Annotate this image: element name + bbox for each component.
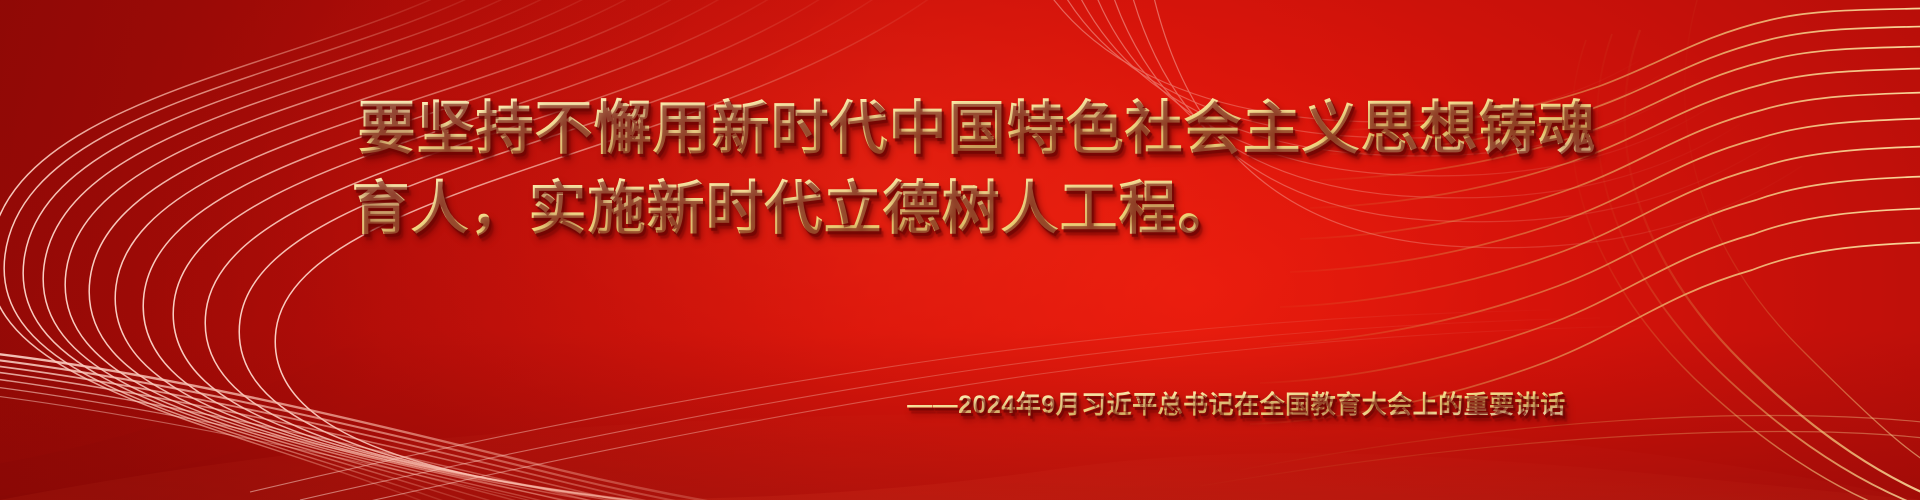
propaganda-banner: 要坚持不懈用新时代中国特色社会主义思想铸魂 育人，实施新时代立德树人工程。 ——…: [0, 0, 1920, 500]
attribution-line: ——2024年9月习近平总书记在全国教育大会上的重要讲话: [0, 356, 1920, 450]
attribution-text: ——2024年9月习近平总书记在全国教育大会上的重要讲话: [907, 385, 1566, 421]
headline-line-2: 育人，实施新时代立德树人工程。: [0, 176, 1920, 242]
headline: 要坚持不懈用新时代中国特色社会主义思想铸魂 育人，实施新时代立德树人工程。: [0, 96, 1920, 241]
banner-content: 要坚持不懈用新时代中国特色社会主义思想铸魂 育人，实施新时代立德树人工程。 ——…: [0, 0, 1920, 500]
headline-line-1: 要坚持不懈用新时代中国特色社会主义思想铸魂: [0, 96, 1920, 162]
